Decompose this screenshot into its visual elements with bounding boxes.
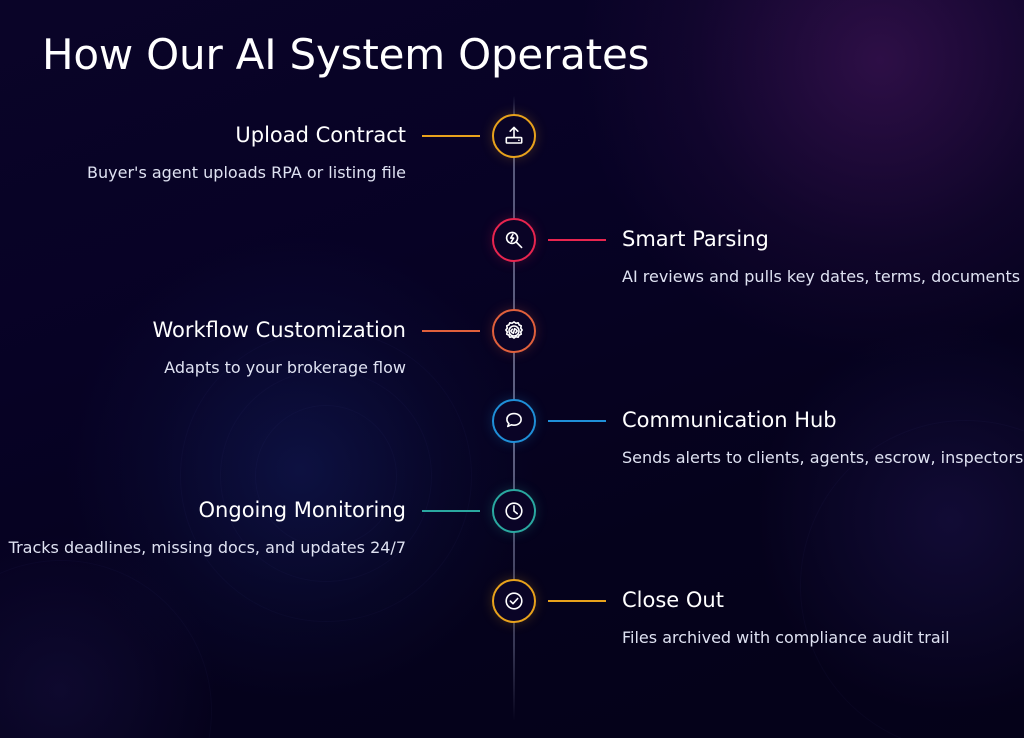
- step-connector-line: [422, 330, 480, 332]
- magnifier-bolt-icon: [502, 228, 526, 252]
- step-connector-line: [422, 510, 480, 512]
- step-marker-gear-code-icon[interactable]: [492, 309, 536, 353]
- step-description: Buyer's agent uploads RPA or listing fil…: [87, 165, 406, 181]
- step-label: Upload Contract: [235, 125, 406, 146]
- step-description: Tracks deadlines, missing docs, and upda…: [9, 540, 406, 556]
- page-title: How Our AI System Operates: [42, 30, 649, 79]
- step-description: Sends alerts to clients, agents, escrow,…: [622, 450, 1023, 466]
- background-ripple: [255, 405, 397, 547]
- step-connector-line: [548, 420, 606, 422]
- step-marker-clock-icon[interactable]: [492, 489, 536, 533]
- step-description: Files archived with compliance audit tra…: [622, 630, 950, 646]
- upload-icon: [502, 124, 526, 148]
- step-description: AI reviews and pulls key dates, terms, d…: [622, 269, 1020, 285]
- step-label: Workflow Customization: [152, 320, 406, 341]
- step-marker-chat-bubble-icon[interactable]: [492, 399, 536, 443]
- step-label: Ongoing Monitoring: [199, 500, 406, 521]
- step-marker-upload-icon[interactable]: [492, 114, 536, 158]
- background-ripple: [800, 420, 1024, 738]
- check-circle-icon: [502, 589, 526, 613]
- diagram-canvas: How Our AI System Operates Upload Contra…: [0, 0, 1024, 738]
- step-description: Adapts to your brokerage flow: [164, 360, 406, 376]
- gear-code-icon: [502, 319, 526, 343]
- step-connector-line: [548, 600, 606, 602]
- step-connector-line: [548, 239, 606, 241]
- step-marker-magnifier-bolt-icon[interactable]: [492, 218, 536, 262]
- step-label: Communication Hub: [622, 410, 837, 431]
- step-connector-line: [422, 135, 480, 137]
- background-ripple: [0, 560, 212, 738]
- step-label: Close Out: [622, 590, 724, 611]
- step-label: Smart Parsing: [622, 229, 769, 250]
- clock-icon: [502, 499, 526, 523]
- chat-bubble-icon: [502, 409, 526, 433]
- step-marker-check-circle-icon[interactable]: [492, 579, 536, 623]
